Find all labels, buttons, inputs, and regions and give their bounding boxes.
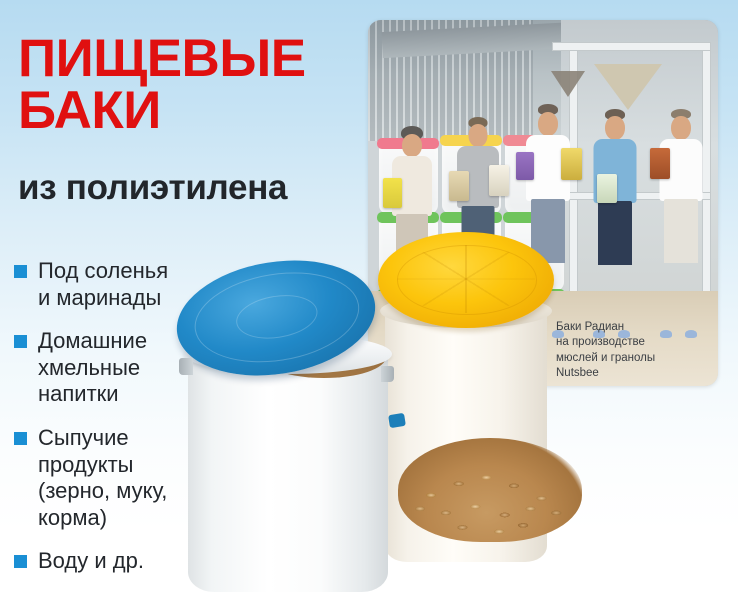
weigher-cone bbox=[551, 71, 585, 97]
lid-grip-tab bbox=[388, 413, 406, 428]
feature-label: Домашние хмельные напитки bbox=[38, 328, 147, 408]
product-package bbox=[516, 152, 534, 180]
head bbox=[605, 116, 625, 140]
bucket-lid bbox=[378, 232, 554, 328]
shoe-cover bbox=[685, 330, 697, 338]
product-package bbox=[383, 178, 402, 208]
handle-lug-right bbox=[381, 366, 394, 382]
person bbox=[585, 108, 645, 335]
product-package bbox=[650, 148, 670, 179]
head bbox=[402, 134, 422, 157]
legs bbox=[664, 199, 698, 263]
photo-caption: Баки Радиан на производстве мюслей и гра… bbox=[556, 320, 655, 381]
page-title: ПИЩЕВЫЕ БАКИ bbox=[18, 33, 306, 137]
blue-lid-bucket bbox=[176, 262, 400, 592]
head bbox=[671, 116, 691, 140]
feature-label: Воду и др. bbox=[38, 548, 144, 575]
person bbox=[652, 108, 712, 335]
feature-label: Под соленья и маринады bbox=[38, 258, 168, 311]
product-package bbox=[449, 171, 469, 201]
product-package bbox=[597, 174, 617, 203]
handle-lug-left bbox=[179, 358, 193, 375]
bullet-square-icon bbox=[14, 555, 27, 568]
head bbox=[469, 124, 488, 147]
product-hopper bbox=[594, 64, 662, 110]
bucket-body bbox=[188, 348, 388, 592]
machine-crossbeam bbox=[552, 42, 712, 51]
product-package bbox=[489, 165, 509, 196]
bullet-square-icon bbox=[14, 432, 27, 445]
bullet-square-icon bbox=[14, 335, 27, 348]
legs bbox=[598, 201, 632, 265]
feature-label: Сыпучие продукты (зерно, муку, корма) bbox=[38, 425, 167, 531]
advertisement-banner: Баки Радиан на производстве мюслей и гра… bbox=[0, 0, 738, 603]
head bbox=[538, 112, 558, 136]
lid-spoke-pattern bbox=[397, 245, 534, 312]
spilled-grain-pile bbox=[398, 438, 582, 542]
product-package bbox=[561, 148, 582, 180]
grain-texture bbox=[398, 438, 582, 542]
shoe-cover bbox=[660, 330, 672, 338]
page-subtitle: из полиэтилена bbox=[18, 168, 287, 208]
bullet-square-icon bbox=[14, 265, 27, 278]
